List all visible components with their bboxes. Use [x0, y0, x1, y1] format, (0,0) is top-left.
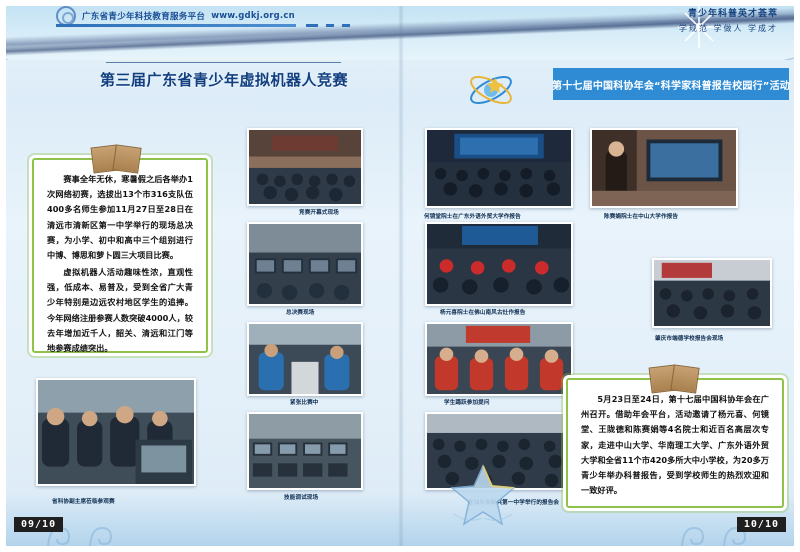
left-note-paragraph-1: 赛事全年无休，寒暑假之后各举办1次网络初赛，选拔出13个市316支队伍400多名…	[47, 172, 193, 263]
yangyuanxi-lecture-caption: 杨元喜院士在佛山南风古灶作报告	[440, 308, 525, 316]
tape-icon-right	[112, 144, 141, 173]
star-decor-icon	[448, 460, 518, 530]
magazine-spread: 广东省青少年科技教育服务平台 www.gdkj.org.cn 青少年科普英才荟萃…	[0, 0, 800, 552]
header-rule	[56, 24, 296, 27]
final-competition-photo[interactable]	[247, 222, 363, 306]
right-note-paragraph-1: 5月23日至24日，第十七届中国科协年会在广州召开。借助年会平台，活动邀请了杨元…	[581, 392, 769, 498]
right-note-tape-group	[650, 366, 706, 394]
zhaoqing-school-lecture-photo[interactable]	[652, 258, 772, 328]
yangyuanxi-lecture-photo[interactable]	[425, 222, 573, 306]
left-title-rule	[106, 62, 341, 63]
association-chairman-visit-photo[interactable]	[36, 378, 196, 486]
skills-debugging-caption: 技能调试现场	[284, 493, 318, 501]
intense-competition-caption: 紧张比赛中	[290, 398, 318, 406]
left-note-card: 赛事全年无休，寒暑假之后各举办1次网络初赛，选拔出13个市316支队伍400多名…	[32, 158, 208, 353]
right-page-title: 第十七届中国科协年会“科学家科普报告校园行”活动	[552, 77, 790, 92]
chensaijuan-lecture-photo[interactable]	[590, 128, 738, 208]
intense-competition-photo[interactable]	[247, 322, 363, 396]
students-questions-caption: 学生踊跃参加提问	[444, 398, 490, 406]
site-identity: 广东省青少年科技教育服务平台 www.gdkj.org.cn	[56, 6, 295, 26]
tape-icon-right-2	[670, 364, 699, 393]
calligraphy-line-1: 青少年科普英才荟萃	[679, 6, 778, 19]
page-gutter	[398, 0, 404, 552]
left-note-tape-group	[92, 146, 148, 174]
left-page-number: 09/10	[14, 517, 63, 532]
right-page-number: 10/10	[737, 517, 786, 532]
calligraphy-block: 青少年科普英才荟萃 学规范 学做人 学成才	[679, 6, 778, 34]
hejingtang-lecture-caption: 何镜堂院士在广东外语外贸大学作报告	[424, 212, 521, 220]
spiral-icon	[56, 6, 76, 26]
skills-debugging-photo[interactable]	[247, 412, 363, 490]
opening-ceremony-caption: 竞赛开幕式现场	[299, 208, 339, 216]
header-rule-dash-3	[342, 24, 350, 27]
header-rule-dash-1	[306, 24, 318, 27]
hejingtang-lecture-photo[interactable]	[425, 128, 573, 208]
left-page-title-block: 第三届广东省青少年虚拟机器人竞赛	[100, 62, 360, 90]
left-note-paragraph-2: 虚拟机器人活动趣味性浓，直观性强，低成本、易普及，受到全省广大青少年特别是边远农…	[47, 265, 193, 356]
left-page-title: 第三届广东省青少年虚拟机器人竞赛	[100, 69, 360, 90]
header-rule-dash-2	[326, 24, 334, 27]
site-url-label[interactable]: www.gdkj.org.cn	[211, 11, 295, 21]
calligraphy-line-2: 学规范 学做人 学成才	[679, 23, 778, 34]
chensaijuan-lecture-caption: 陈赛娟院士在中山大学作报告	[604, 212, 678, 220]
opening-ceremony-photo[interactable]	[247, 128, 363, 206]
right-note-card: 5月23日至24日，第十七届中国科协年会在广州召开。借助年会平台，活动邀请了杨元…	[566, 378, 784, 508]
students-questions-photo[interactable]	[425, 322, 573, 396]
final-competition-caption: 总决赛现场	[286, 308, 314, 316]
zhaoqing-school-lecture-caption: 肇庆市端德学校报告会现场	[655, 334, 723, 342]
site-name-label: 广东省青少年科技教育服务平台	[82, 10, 205, 22]
right-page-title-box: 第十七届中国科协年会“科学家科普报告校园行”活动	[553, 68, 789, 100]
atom-logo-icon	[465, 66, 517, 114]
